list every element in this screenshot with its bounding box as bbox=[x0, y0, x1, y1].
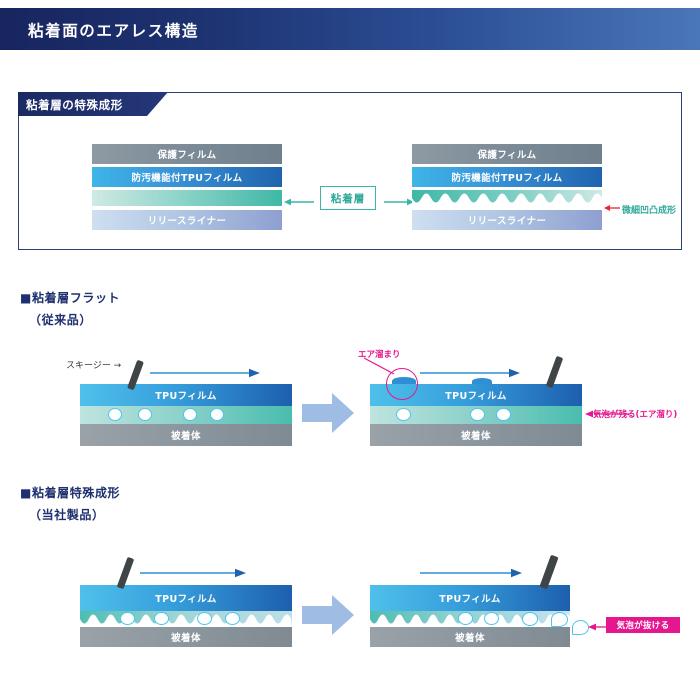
tpu-film-label: TPUフィルム bbox=[445, 388, 507, 402]
tpu-film-label: TPUフィルム bbox=[155, 591, 217, 605]
squeegee-direction-arrow bbox=[140, 568, 246, 578]
layer-release-liner-right: リリースライナー bbox=[412, 210, 602, 230]
transition-arrow-flat bbox=[302, 390, 354, 436]
air-bubble bbox=[120, 612, 135, 625]
bubbles-escape-arrow bbox=[588, 622, 608, 632]
micro-texture-arrow bbox=[604, 203, 620, 213]
tpu-film-band: TPUフィルム bbox=[80, 384, 292, 406]
tpu-film-band: TPUフィルム bbox=[370, 585, 570, 611]
layer-label: 保護フィルム bbox=[157, 147, 216, 161]
air-bubble bbox=[138, 408, 152, 421]
page-root: 粘着面のエアレス構造 粘着層の特殊成形 保護フィルム 防汚機能付TPUフィルム … bbox=[0, 0, 700, 700]
layer-tpu-film-right: 防汚機能付TPUフィルム bbox=[412, 167, 602, 187]
layer-release-liner-left: リリースライナー bbox=[92, 210, 282, 230]
air-pocket-label: エア溜まり bbox=[358, 348, 401, 360]
layer-adhesive-right-textured bbox=[412, 190, 602, 206]
bubbles-escape-label: 気泡が抜ける bbox=[617, 619, 670, 631]
page-title: 粘着面のエアレス構造 bbox=[28, 19, 199, 41]
section-flat-heading: ■粘着層フラット bbox=[20, 289, 120, 306]
layer-label: 防汚機能付TPUフィルム bbox=[131, 170, 242, 184]
micro-texture-wave bbox=[412, 198, 602, 207]
flat-before-diagram: TPUフィルム 被着体 bbox=[80, 384, 292, 446]
panel-tab-label: 粘着層の特殊成形 bbox=[26, 97, 123, 113]
adhesive-band-textured bbox=[80, 611, 292, 627]
air-bubble bbox=[396, 408, 411, 421]
air-bubble bbox=[522, 612, 538, 626]
formed-before-diagram: TPUフィルム 被着体 bbox=[80, 585, 292, 647]
section-formed-heading: ■粘着層特殊成形 bbox=[20, 484, 120, 501]
layer-protective-film-left: 保護フィルム bbox=[92, 144, 282, 164]
escaping-bubble bbox=[551, 612, 568, 627]
section-flat-subheading: （従来品） bbox=[29, 311, 92, 328]
squeegee-direction-arrow bbox=[420, 368, 520, 378]
air-bubble bbox=[458, 612, 473, 625]
arrow-to-left-stack bbox=[284, 196, 314, 208]
substrate-band: 被着体 bbox=[80, 424, 292, 446]
layer-label: リリースライナー bbox=[468, 213, 547, 227]
air-bubble bbox=[197, 612, 212, 625]
escaping-bubble bbox=[572, 620, 589, 635]
layer-label: 防汚機能付TPUフィルム bbox=[451, 170, 562, 184]
right-layer-stack: 保護フィルム 防汚機能付TPUフィルム リリースライナー bbox=[412, 144, 602, 234]
tpu-film-label: TPUフィルム bbox=[155, 388, 217, 402]
air-bubble bbox=[470, 408, 485, 421]
substrate-label: 被着体 bbox=[455, 630, 485, 644]
air-bubble bbox=[225, 612, 240, 625]
air-bubble bbox=[183, 408, 197, 421]
bubbles-escape-chip: 気泡が抜ける bbox=[606, 617, 680, 633]
air-bubble bbox=[108, 408, 122, 421]
transition-arrow-formed bbox=[302, 592, 354, 638]
squeegee-label: スキージー → bbox=[66, 358, 121, 371]
formed-after-diagram: TPUフィルム 被着体 bbox=[370, 585, 570, 647]
arrow-to-right-stack bbox=[384, 196, 414, 208]
substrate-band: 被着体 bbox=[80, 627, 292, 647]
layer-protective-film-right: 保護フィルム bbox=[412, 144, 602, 164]
substrate-label: 被着体 bbox=[171, 630, 201, 644]
squeegee-direction-arrow bbox=[420, 568, 522, 578]
bubbles-remain-label: 気泡が残る(エア溜り) bbox=[593, 408, 677, 420]
layer-tpu-film-left: 防汚機能付TPUフィルム bbox=[92, 167, 282, 187]
tpu-film-label: TPUフィルム bbox=[439, 591, 501, 605]
tpu-film-band: TPUフィルム bbox=[80, 585, 292, 611]
adhesive-layer-callout-box: 粘着層 bbox=[320, 186, 376, 210]
left-layer-stack: 保護フィルム 防汚機能付TPUフィルム リリースライナー bbox=[92, 144, 282, 234]
layer-label: リリースライナー bbox=[148, 213, 227, 227]
air-bubble bbox=[210, 408, 224, 421]
air-bubble bbox=[496, 408, 511, 421]
air-bubble bbox=[154, 612, 169, 625]
substrate-label: 被着体 bbox=[461, 428, 491, 442]
adhesive-layer-callout-label: 粘着層 bbox=[331, 191, 366, 206]
air-bubble bbox=[484, 612, 499, 625]
section-formed-subheading: （当社製品） bbox=[29, 506, 105, 523]
layer-label: 保護フィルム bbox=[477, 147, 536, 161]
squeegee-direction-arrow bbox=[150, 368, 260, 378]
layer-adhesive-left bbox=[92, 190, 282, 206]
substrate-band: 被着体 bbox=[370, 424, 582, 446]
micro-texture-label: 微細凹凸成形 bbox=[622, 203, 676, 216]
substrate-band: 被着体 bbox=[370, 627, 570, 647]
substrate-label: 被着体 bbox=[171, 428, 201, 442]
